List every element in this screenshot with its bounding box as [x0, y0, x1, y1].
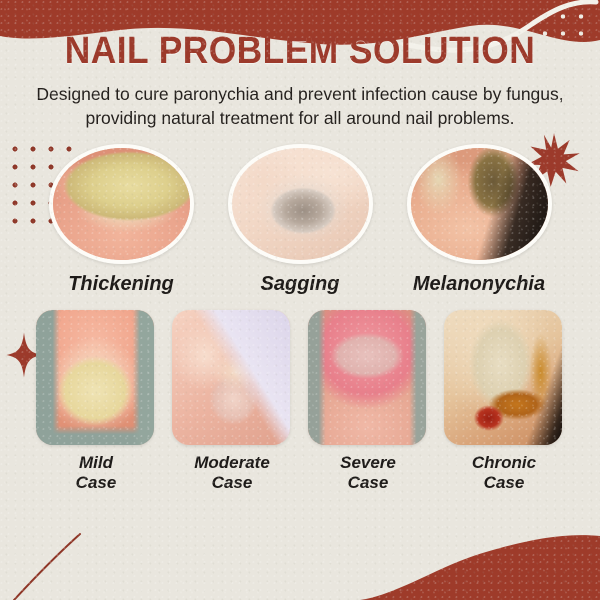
severity-label-moderate: Moderate Case — [172, 453, 292, 493]
severity-card-moderate[interactable]: Moderate Case — [172, 310, 292, 493]
nail-photo-sagging — [232, 148, 369, 260]
page-subtitle: Designed to cure paronychia and prevent … — [30, 82, 570, 130]
photo-frame-rect — [36, 310, 154, 445]
problem-card-sagging[interactable]: Sagging — [228, 144, 373, 296]
problem-card-thickening[interactable]: Thickening — [49, 144, 194, 296]
nail-photo-melanonychia — [411, 148, 548, 260]
poster-canvas: NAIL PROBLEM SOLUTION Designed to cure p… — [0, 0, 600, 600]
nail-photo-severe-case — [308, 310, 426, 445]
nail-photo-thickening — [53, 148, 190, 260]
poster-content: NAIL PROBLEM SOLUTION Designed to cure p… — [0, 0, 600, 493]
nail-photo-mild-case — [36, 310, 154, 445]
photo-frame-circle — [49, 144, 194, 264]
nail-photo-chronic-case — [444, 310, 562, 445]
severity-label-chronic: Chronic Case — [444, 453, 564, 493]
severity-label-line1: Mild — [36, 453, 156, 473]
photo-frame-rect — [172, 310, 290, 445]
photo-frame-circle — [228, 144, 373, 264]
severity-label-mild: Mild Case — [36, 453, 156, 493]
problem-types-row: Thickening Sagging Melanonychia — [0, 144, 600, 296]
problem-label-thickening: Thickening — [49, 273, 194, 296]
severity-label-severe: Severe Case — [308, 453, 428, 493]
severity-card-severe[interactable]: Severe Case — [308, 310, 428, 493]
severity-card-chronic[interactable]: Chronic Case — [444, 310, 564, 493]
severity-label-line2: Case — [36, 473, 156, 493]
severity-label-line1: Severe — [308, 453, 428, 473]
problem-label-melanonychia: Melanonychia — [407, 273, 552, 296]
severity-label-line2: Case — [444, 473, 564, 493]
nail-photo-moderate-case — [172, 310, 290, 445]
severity-label-line2: Case — [308, 473, 428, 493]
thin-curved-line — [0, 530, 160, 600]
severity-label-line2: Case — [172, 473, 292, 493]
photo-frame-rect — [308, 310, 426, 445]
severity-label-line1: Moderate — [172, 453, 292, 473]
severity-label-line1: Chronic — [444, 453, 564, 473]
severity-stages-row: Mild Case Moderate Case Severe — [0, 310, 600, 493]
page-title: NAIL PROBLEM SOLUTION — [21, 32, 579, 70]
problem-card-melanonychia[interactable]: Melanonychia — [407, 144, 552, 296]
photo-frame-circle — [407, 144, 552, 264]
severity-card-mild[interactable]: Mild Case — [36, 310, 156, 493]
photo-frame-rect — [444, 310, 562, 445]
problem-label-sagging: Sagging — [228, 273, 373, 296]
